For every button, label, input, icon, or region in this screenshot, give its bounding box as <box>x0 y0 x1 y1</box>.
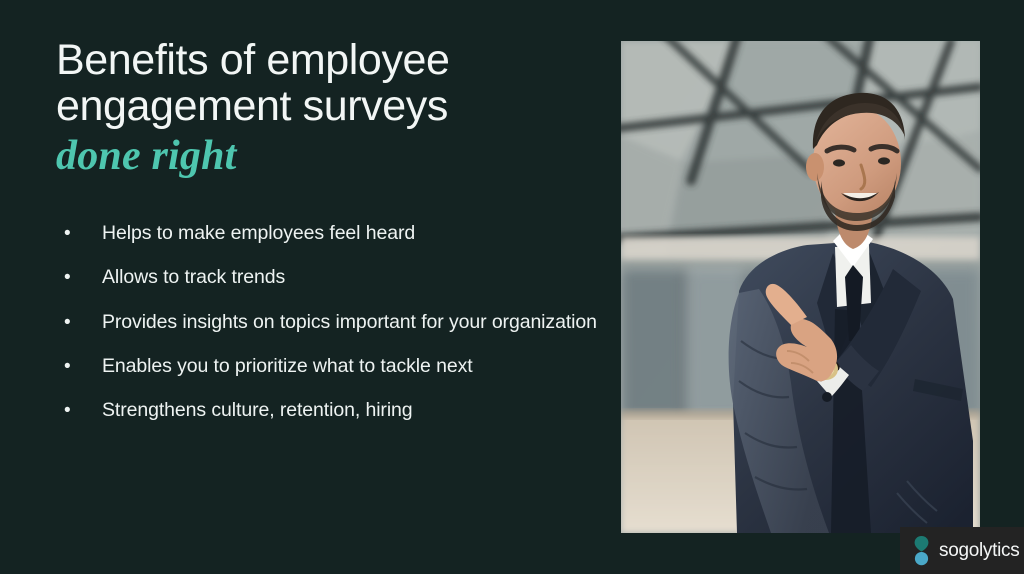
hero-photo <box>621 41 980 533</box>
list-item-label: Strengthens culture, retention, hiring <box>102 399 601 422</box>
list-item: • Helps to make employees feel heard <box>56 222 601 246</box>
heading-main-text: Benefits of employee engagement surveys <box>56 38 601 129</box>
heading-accent-text: done right <box>56 131 601 182</box>
benefits-list: • Helps to make employees feel heard • A… <box>56 222 601 424</box>
list-item: • Allows to track trends <box>56 266 601 290</box>
sogolytics-logo-badge: sogolytics <box>900 527 1024 574</box>
list-item: • Enables you to prioritize what to tack… <box>56 355 601 379</box>
slide-heading: Benefits of employee engagement surveys … <box>56 38 601 182</box>
bullet-point-icon: • <box>56 222 102 246</box>
sogolytics-droplet-mark-icon <box>913 536 930 566</box>
list-item-label: Allows to track trends <box>102 266 601 289</box>
bullet-point-icon: • <box>56 355 102 379</box>
list-item: • Provides insights on topics important … <box>56 311 601 335</box>
photo-illustration <box>621 41 980 533</box>
sogolytics-wordmark: sogolytics <box>939 541 1019 560</box>
bullet-point-icon: • <box>56 399 102 423</box>
slide-canvas: Benefits of employee engagement surveys … <box>0 0 1024 574</box>
list-item-label: Helps to make employees feel heard <box>102 222 601 245</box>
title-block: Benefits of employee engagement surveys … <box>56 38 601 188</box>
bullet-point-icon: • <box>56 266 102 290</box>
list-item-label: Enables you to prioritize what to tackle… <box>102 355 601 378</box>
list-item: • Strengthens culture, retention, hiring <box>56 399 601 423</box>
list-item-label: Provides insights on topics important fo… <box>102 311 601 334</box>
bullet-point-icon: • <box>56 311 102 335</box>
